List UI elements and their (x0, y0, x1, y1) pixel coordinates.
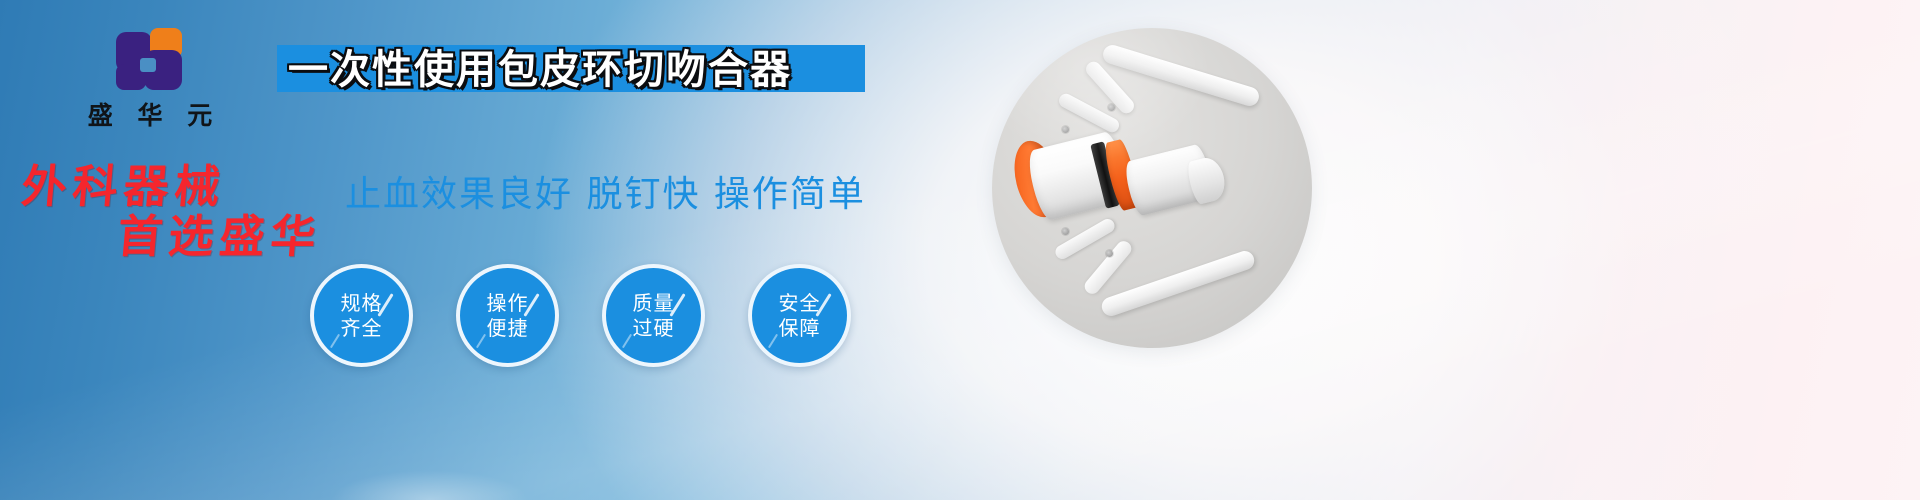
device-pin (1106, 250, 1113, 257)
device-lower-arm-joint (1082, 238, 1135, 297)
badge-slash-secondary-icon (330, 334, 340, 349)
badge-label-line2: 过硬 (633, 316, 675, 341)
feature-badge[interactable]: 规格 齐全 (310, 264, 413, 367)
logo-shape-notch (140, 58, 156, 72)
product-photo (992, 28, 1312, 348)
badge-label-line2: 齐全 (341, 316, 383, 341)
device-pin (1062, 228, 1069, 235)
company-logo[interactable]: 盛 华 元 (60, 28, 240, 132)
badge-label-line1: 规格 (341, 291, 383, 316)
bottom-glow-decoration (330, 470, 530, 500)
calligraphy-line-2: 首选盛华 (115, 200, 325, 265)
badge-slash-secondary-icon (476, 334, 486, 349)
badge-label-line2: 保障 (779, 316, 821, 341)
badge-slash-secondary-icon (768, 334, 778, 349)
feature-badge-list: 规格 齐全 操作 便捷 质量 过硬 安全 保障 (310, 264, 851, 367)
feature-badge[interactable]: 操作 便捷 (456, 264, 559, 367)
logo-mark-icon (110, 28, 190, 90)
logo-company-name: 盛 华 元 (60, 96, 240, 132)
badge-label-line1: 质量 (633, 291, 675, 316)
promo-banner: 盛 华 元 一次性使用包皮环切吻合器 外科器械 首选盛华 止血效果良好 脱钉快 … (0, 0, 1920, 500)
page-title: 一次性使用包皮环切吻合器 (288, 46, 888, 96)
badge-label-line1: 操作 (487, 291, 529, 316)
feature-badge[interactable]: 安全 保障 (748, 264, 851, 367)
badge-label-line2: 便捷 (487, 316, 529, 341)
subtitle-text: 止血效果良好 脱钉快 操作简单 (345, 165, 866, 217)
badge-slash-secondary-icon (622, 334, 632, 349)
feature-badge[interactable]: 质量 过硬 (602, 264, 705, 367)
badge-label-line1: 安全 (779, 291, 821, 316)
